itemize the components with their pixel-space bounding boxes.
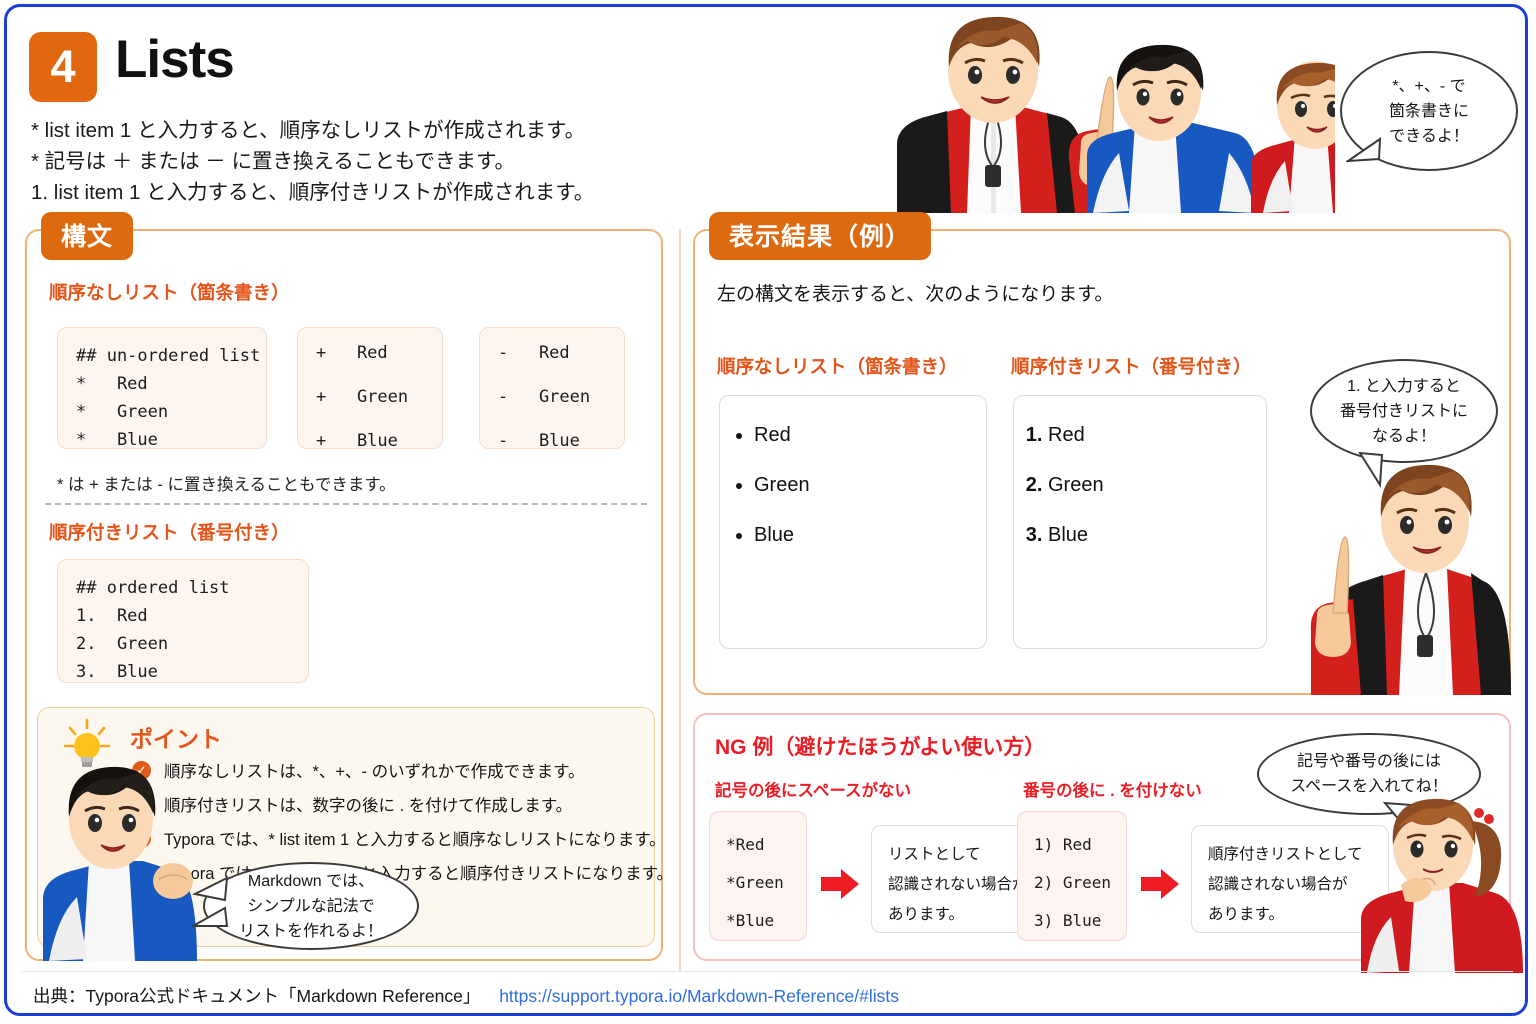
header-line-2: * 記号は ＋ または － に置き換えることもできます。 (31, 146, 594, 177)
ng-left-code: *Red *Green *Blue (709, 811, 807, 941)
bubble-tail-icon (1381, 801, 1433, 847)
bubble-tail-icon (1354, 451, 1398, 491)
panel-divider (679, 229, 681, 971)
footer: 出典：Typora公式ドキュメント「Markdown Reference」 ht… (33, 983, 899, 1008)
bubble-ng-line-1: 記号や番号の後には (1297, 749, 1441, 774)
bubble-point-line-1: Markdown では、 (248, 869, 374, 894)
bubble-top-line-2: 箇条書きに (1389, 99, 1469, 124)
page-title: Lists (115, 29, 234, 90)
ng-left-result: リストとして 認識されない場合が あります。 (871, 825, 1037, 933)
result-ordered-heading: 順序付きリスト（番号付き） (1011, 353, 1252, 379)
bubble-tail-icon (191, 874, 237, 934)
code-block-ordered: ## ordered list 1. Red 2. Green 3. Blue (57, 559, 309, 683)
bubble-top-line-1: *、+、- で (1392, 74, 1465, 99)
list-item: Green (1048, 460, 1266, 510)
result-unordered-heading: 順序なしリスト（箇条書き） (717, 353, 958, 379)
speech-bubble-ng: 記号や番号の後には スペースを入れてね！ (1257, 733, 1481, 815)
header-description: * list item 1 と入力すると、順序なしリストが作成されます。 * 記… (31, 115, 594, 208)
list-item: Green (754, 460, 986, 510)
result-panel-tab: 表示結果（例） (709, 212, 931, 260)
bubble-point-line-2: シンプルな記法で (247, 894, 375, 919)
header-line-1: * list item 1 と入力すると、順序なしリストが作成されます。 (31, 115, 594, 146)
list-item: Red (1048, 410, 1266, 460)
ng-left-heading: 記号の後にスペースがない (715, 777, 911, 801)
footer-divider (21, 971, 1513, 972)
header-line-3: 1. list item 1 と入力すると、順序付きリストが作成されます。 (31, 177, 594, 208)
syntax-note: * は + または - に置き換えることもできます。 (57, 471, 396, 495)
bubble-ng-line-2: スペースを入れてね！ (1290, 774, 1448, 799)
bubble-point-line-3: リストを作れるよ！ (239, 919, 383, 944)
unordered-syntax-heading: 順序なしリスト（箇条書き） (49, 279, 290, 305)
bubble-top-line-3: できるよ！ (1389, 124, 1469, 149)
point-item: ✓ Typora では、* list item 1 と入力すると順序なしリストに… (132, 826, 673, 850)
footer-source-text: 出典：Typora公式ドキュメント「Markdown Reference」 (33, 986, 480, 1006)
code-block-dash: - Red - Green - Blue (479, 327, 625, 449)
bubble-mid-line-1: 1. と入力すると (1347, 374, 1461, 399)
point-item-label: Typora では、* list item 1 と入力すると順序なしリストになり… (164, 826, 666, 850)
point-box-title: ポイント (130, 720, 222, 754)
ng-panel-title: NG 例（避けたほうがよい使い方） (715, 731, 1045, 761)
ordered-result-list: Red Green Blue (1014, 410, 1266, 560)
check-icon: ✓ (132, 761, 151, 780)
list-item: Blue (754, 510, 986, 560)
point-item: ✓ 順序付きリストは、数字の後に . を付けて作成します。 (132, 792, 673, 816)
code-block-asterisk: ## un-ordered list * Red * Green * Blue (57, 327, 267, 449)
ng-right-code: 1) Red 2) Green 3) Blue (1017, 811, 1127, 941)
point-item-label: 順序付きリストは、数字の後に . を付けて作成します。 (164, 792, 572, 816)
result-panel-lead: 左の構文を表示すると、次のようになります。 (717, 279, 1113, 306)
list-item: Red (754, 410, 986, 460)
result-unordered-box: Red Green Blue (719, 395, 987, 649)
three-characters-illustration (825, 9, 1335, 213)
point-item-label: 順序なしリストは、*、+、- のいずれかで作成できます。 (164, 758, 585, 782)
ng-right-result: 順序付きリストとして 認識されない場合が あります。 (1191, 825, 1389, 933)
unordered-result-list: Red Green Blue (720, 410, 986, 560)
arrow-right-icon (821, 867, 859, 901)
header: 4 Lists * list item 1 と入力すると、順序なしリストが作成さ… (7, 7, 1525, 213)
code-block-plus: + Red + Green + Blue (297, 327, 443, 449)
bubble-mid-line-3: なるよ！ (1372, 424, 1436, 449)
section-number-badge: 4 (29, 32, 97, 102)
ordered-syntax-heading: 順序付きリスト（番号付き） (49, 519, 290, 545)
bubble-mid-line-2: 番号付きリストに (1340, 399, 1468, 424)
speech-bubble-mid-right: 1. と入力すると 番号付きリストに なるよ！ (1310, 359, 1498, 463)
check-icon: ✓ (132, 863, 151, 882)
syntax-panel-tab: 構文 (41, 212, 133, 260)
infographic-page: 4 Lists * list item 1 と入力すると、順序なしリストが作成さ… (4, 4, 1528, 1016)
lightbulb-icon (60, 716, 114, 772)
list-item: Blue (1048, 510, 1266, 560)
check-icon: ✓ (132, 795, 151, 814)
point-item: ✓ 順序なしリストは、*、+、- のいずれかで作成できます。 (132, 758, 673, 782)
speech-bubble-top-right: *、+、- で 箇条書きに できるよ！ (1340, 51, 1518, 171)
check-icon: ✓ (132, 829, 151, 848)
speech-bubble-point: Markdown では、 シンプルな記法で リストを作れるよ！ (203, 862, 419, 950)
result-ordered-box: Red Green Blue (1013, 395, 1267, 649)
bubble-tail-icon (1346, 135, 1386, 169)
arrow-right-icon (1141, 867, 1179, 901)
section-divider (45, 503, 647, 505)
ng-right-heading: 番号の後に . を付けない (1023, 777, 1202, 801)
footer-source-link[interactable]: https://support.typora.io/Markdown-Refer… (499, 986, 899, 1006)
